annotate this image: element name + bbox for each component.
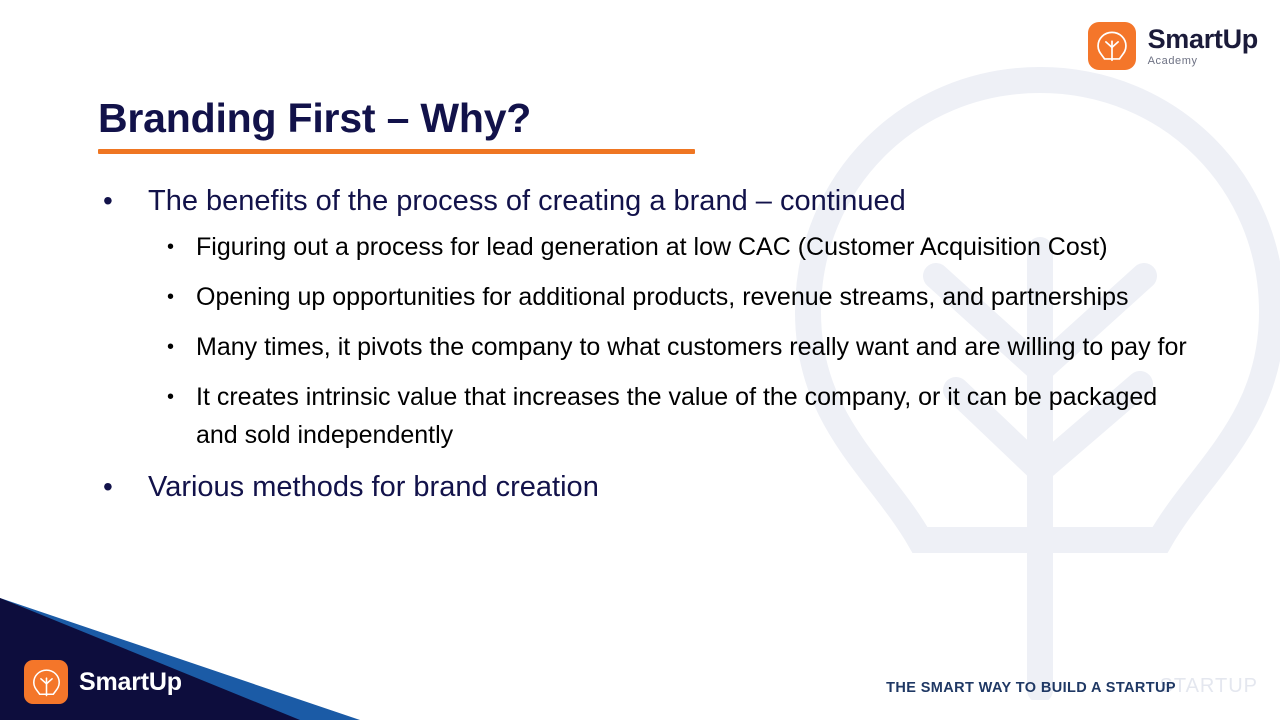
smartup-logo-mark-footer — [24, 660, 68, 704]
slide-title: Branding First – Why? — [98, 96, 695, 142]
bullet-text: Various methods for brand creation — [148, 466, 599, 508]
brand-name: SmartUp — [1148, 26, 1258, 53]
footer-tagline: THE SMART WAY TO BUILD A STARTUP — [886, 680, 1176, 696]
brand-wordmark: SmartUp Academy — [1148, 26, 1258, 67]
sub-bullet-list: • Figuring out a process for lead genera… — [167, 228, 1208, 454]
slide-body: • The benefits of the process of creatin… — [98, 180, 1208, 514]
bullet-dot-icon: • — [167, 278, 196, 316]
footer-logo-name: SmartUp — [79, 668, 182, 697]
bullet-text: Opening up opportunities for additional … — [196, 278, 1129, 316]
tree-bulb-icon — [1095, 29, 1129, 63]
brand-subtitle: Academy — [1148, 56, 1258, 67]
brand-lockup-topright: SmartUp Academy — [1088, 22, 1258, 70]
bullet-text: The benefits of the process of creating … — [148, 180, 906, 222]
footer-logo-lockup: SmartUp — [24, 660, 182, 704]
bullet-dot-icon: • — [167, 378, 196, 416]
bullet-dot-icon: • — [167, 328, 196, 366]
bullet-dot-icon: • — [167, 228, 196, 266]
bullet-level2: • Figuring out a process for lead genera… — [167, 228, 1208, 266]
smartup-logo-mark — [1088, 22, 1136, 70]
bullet-text: It creates intrinsic value that increase… — [196, 378, 1196, 454]
slide-canvas: SmartUp Academy Branding First – Why? • … — [0, 0, 1280, 720]
bullet-text: Many times, it pivots the company to wha… — [196, 328, 1187, 366]
bullet-level1: • Various methods for brand creation — [98, 466, 1208, 508]
bullet-text: Figuring out a process for lead generati… — [196, 228, 1108, 266]
tree-bulb-icon — [31, 667, 62, 698]
bullet-level2: • Many times, it pivots the company to w… — [167, 328, 1208, 366]
bullet-dot-icon: • — [98, 180, 148, 222]
bullet-level2: • It creates intrinsic value that increa… — [167, 378, 1208, 454]
bullet-level2: • Opening up opportunities for additiona… — [167, 278, 1208, 316]
bullet-dot-icon: • — [98, 466, 148, 508]
bullet-level1: • The benefits of the process of creatin… — [98, 180, 1208, 222]
title-block: Branding First – Why? — [98, 96, 695, 154]
title-underline-rule — [98, 149, 695, 154]
